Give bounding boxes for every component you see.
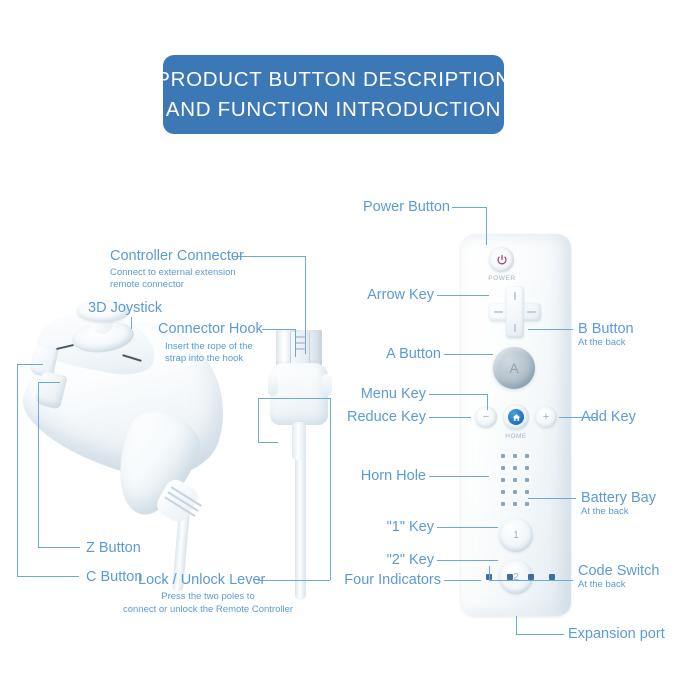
label-menu-key: Menu Key [292,386,426,402]
label-c-button: C Button [86,569,142,585]
leader-power-h [452,207,486,208]
leader-arrow-key [437,295,489,296]
plug-lever-left [268,374,278,396]
label-battery-bay: Battery Bay [581,490,656,506]
leader-controller-connector-v [305,256,306,354]
four-indicator-leds [461,574,571,584]
speaker-hole [513,454,517,458]
arrow-key-dpad [489,286,541,338]
label-lock-unlock-lever: Lock / Unlock Lever [138,572,265,588]
label-3d-joystick: 3D Joystick [88,300,162,316]
power-button [489,247,514,272]
plug-tail [292,422,306,460]
reduce-key-button: − [475,406,497,428]
leader-c-bracket-v [17,364,18,576]
leader-power-v [486,207,487,245]
label-power-button: Power Button [302,199,450,215]
horn-hole-speaker-grid [499,452,533,508]
power-label-text: POWER [483,275,521,282]
a-button: A [493,347,535,389]
label-one-key: "1" Key [302,519,434,535]
title-banner: PRODUCT BUTTON DESCRIPTION AND FUNCTION … [163,55,504,134]
label-connector-hook-desc-1: Insert the rope of the [165,341,253,353]
label-horn-hole: Horn Hole [292,468,426,484]
leader-expansion-h [516,634,564,635]
leader-connector-hook-h [262,329,295,330]
label-controller-connector-desc-2: remote connector [110,279,184,291]
remote-controller-illustration: POWER A − + HOME 1 2 [461,234,571,616]
speaker-hole [525,490,529,494]
label-lock-lever-desc-1: Press the two poles to [118,591,298,603]
leader-c-bracket-bottom [17,576,79,577]
leader-one-key [437,527,498,528]
leader-code-switch-h [489,580,573,581]
leader-connector-hook-v [295,329,296,357]
speaker-hole [525,502,529,506]
label-connector-hook-desc-2: strap into the hook [165,353,243,365]
label-z-button: Z Button [86,540,141,556]
leader-two-key [437,560,498,561]
leader-four-indicators [444,580,481,581]
label-expansion-port: Expansion port [568,626,665,642]
leader-code-switch-v [489,566,490,580]
leader-c-bracket-top [17,364,43,365]
leader-battery-bay [528,498,576,499]
leader-b-button [528,329,573,330]
label-two-key: "2" Key [302,552,434,568]
speaker-hole [501,478,505,482]
leader-lock-box-left [258,398,259,442]
speaker-hole [525,466,529,470]
leader-joystick [131,317,132,329]
label-add-key: Add Key [581,409,636,425]
speaker-hole [501,490,505,494]
speaker-hole [525,454,529,458]
label-controller-connector-desc-1: Connect to external extension [110,267,236,279]
label-a-button: A Button [302,346,441,362]
label-lock-lever-desc-2: connect or unlock the Remote Controller [98,604,318,616]
one-key-button: 1 [499,518,533,552]
add-key-button: + [535,406,557,428]
leader-expansion-v [516,616,517,634]
leader-z-bracket-v [38,382,39,547]
label-four-indicators: Four Indicators [282,572,441,588]
label-connector-hook: Connector Hook [158,321,263,337]
label-b-button-sub: At the back [578,337,626,349]
speaker-hole [513,466,517,470]
speaker-hole [525,478,529,482]
leader-menu-key-h [429,394,487,395]
label-code-switch-sub: At the back [578,579,626,591]
label-arrow-key: Arrow Key [292,287,434,303]
speaker-hole [501,466,505,470]
home-label-text: HOME [495,433,537,440]
leader-lock-box-bottom [258,442,278,443]
leader-horn-hole [429,476,489,477]
title-line-2: AND FUNCTION INTRODUCTION [166,95,501,125]
leader-reduce-key [429,417,471,418]
speaker-hole [513,490,517,494]
speaker-hole [513,502,517,506]
label-battery-bay-sub: At the back [581,506,629,518]
leader-menu-key-v [487,394,488,410]
title-line-1: PRODUCT BUTTON DESCRIPTION [156,65,511,95]
leader-a-button [444,354,493,355]
leader-z-bracket-bottom [38,547,80,548]
product-diagram: PRODUCT BUTTON DESCRIPTION AND FUNCTION … [0,0,700,700]
speaker-hole [501,454,505,458]
home-icon [508,409,524,425]
nunchuk-illustration [10,300,250,560]
leader-z-bracket-top [38,382,60,383]
label-b-button: B Button [578,321,634,337]
speaker-hole [501,502,505,506]
menu-home-button [503,404,529,430]
label-code-switch: Code Switch [578,563,659,579]
label-reduce-key: Reduce Key [292,409,426,425]
speaker-hole [513,478,517,482]
label-controller-connector: Controller Connector [110,248,244,264]
